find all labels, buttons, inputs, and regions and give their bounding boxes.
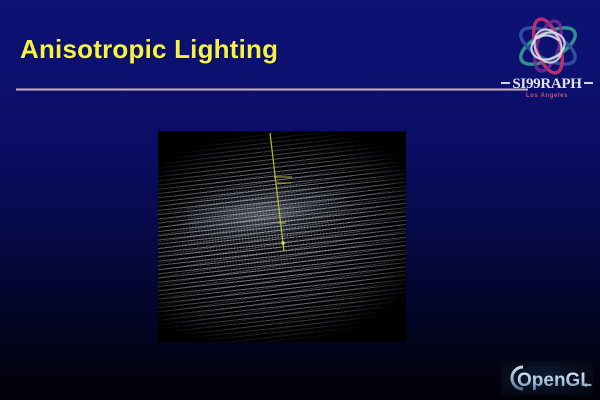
render-viewport	[158, 131, 406, 342]
siggraph-rings-icon	[504, 14, 592, 78]
page-title: Anisotropic Lighting	[20, 34, 278, 65]
siggraph-city-label: Los Angeles	[498, 93, 596, 99]
siggraph-logo: SI99RAPH Los Angeles	[498, 14, 596, 106]
siggraph-wordmark: SI99RAPH	[498, 76, 596, 93]
siggraph-wordmark-text: SI99RAPH	[512, 76, 581, 92]
siggraph-dash-left-icon	[501, 82, 510, 84]
opengl-logo: OpenGL	[501, 361, 593, 395]
svg-text:OpenGL: OpenGL	[517, 370, 592, 391]
fiber-specular-speckle-layer	[158, 131, 406, 342]
title-divider	[16, 88, 528, 91]
siggraph-dash-right-icon	[584, 82, 593, 84]
presentation-slide: Anisotropic Lighting SI99RAPH Los Angele…	[0, 0, 600, 400]
opengl-logo-icon: OpenGL	[501, 361, 593, 395]
